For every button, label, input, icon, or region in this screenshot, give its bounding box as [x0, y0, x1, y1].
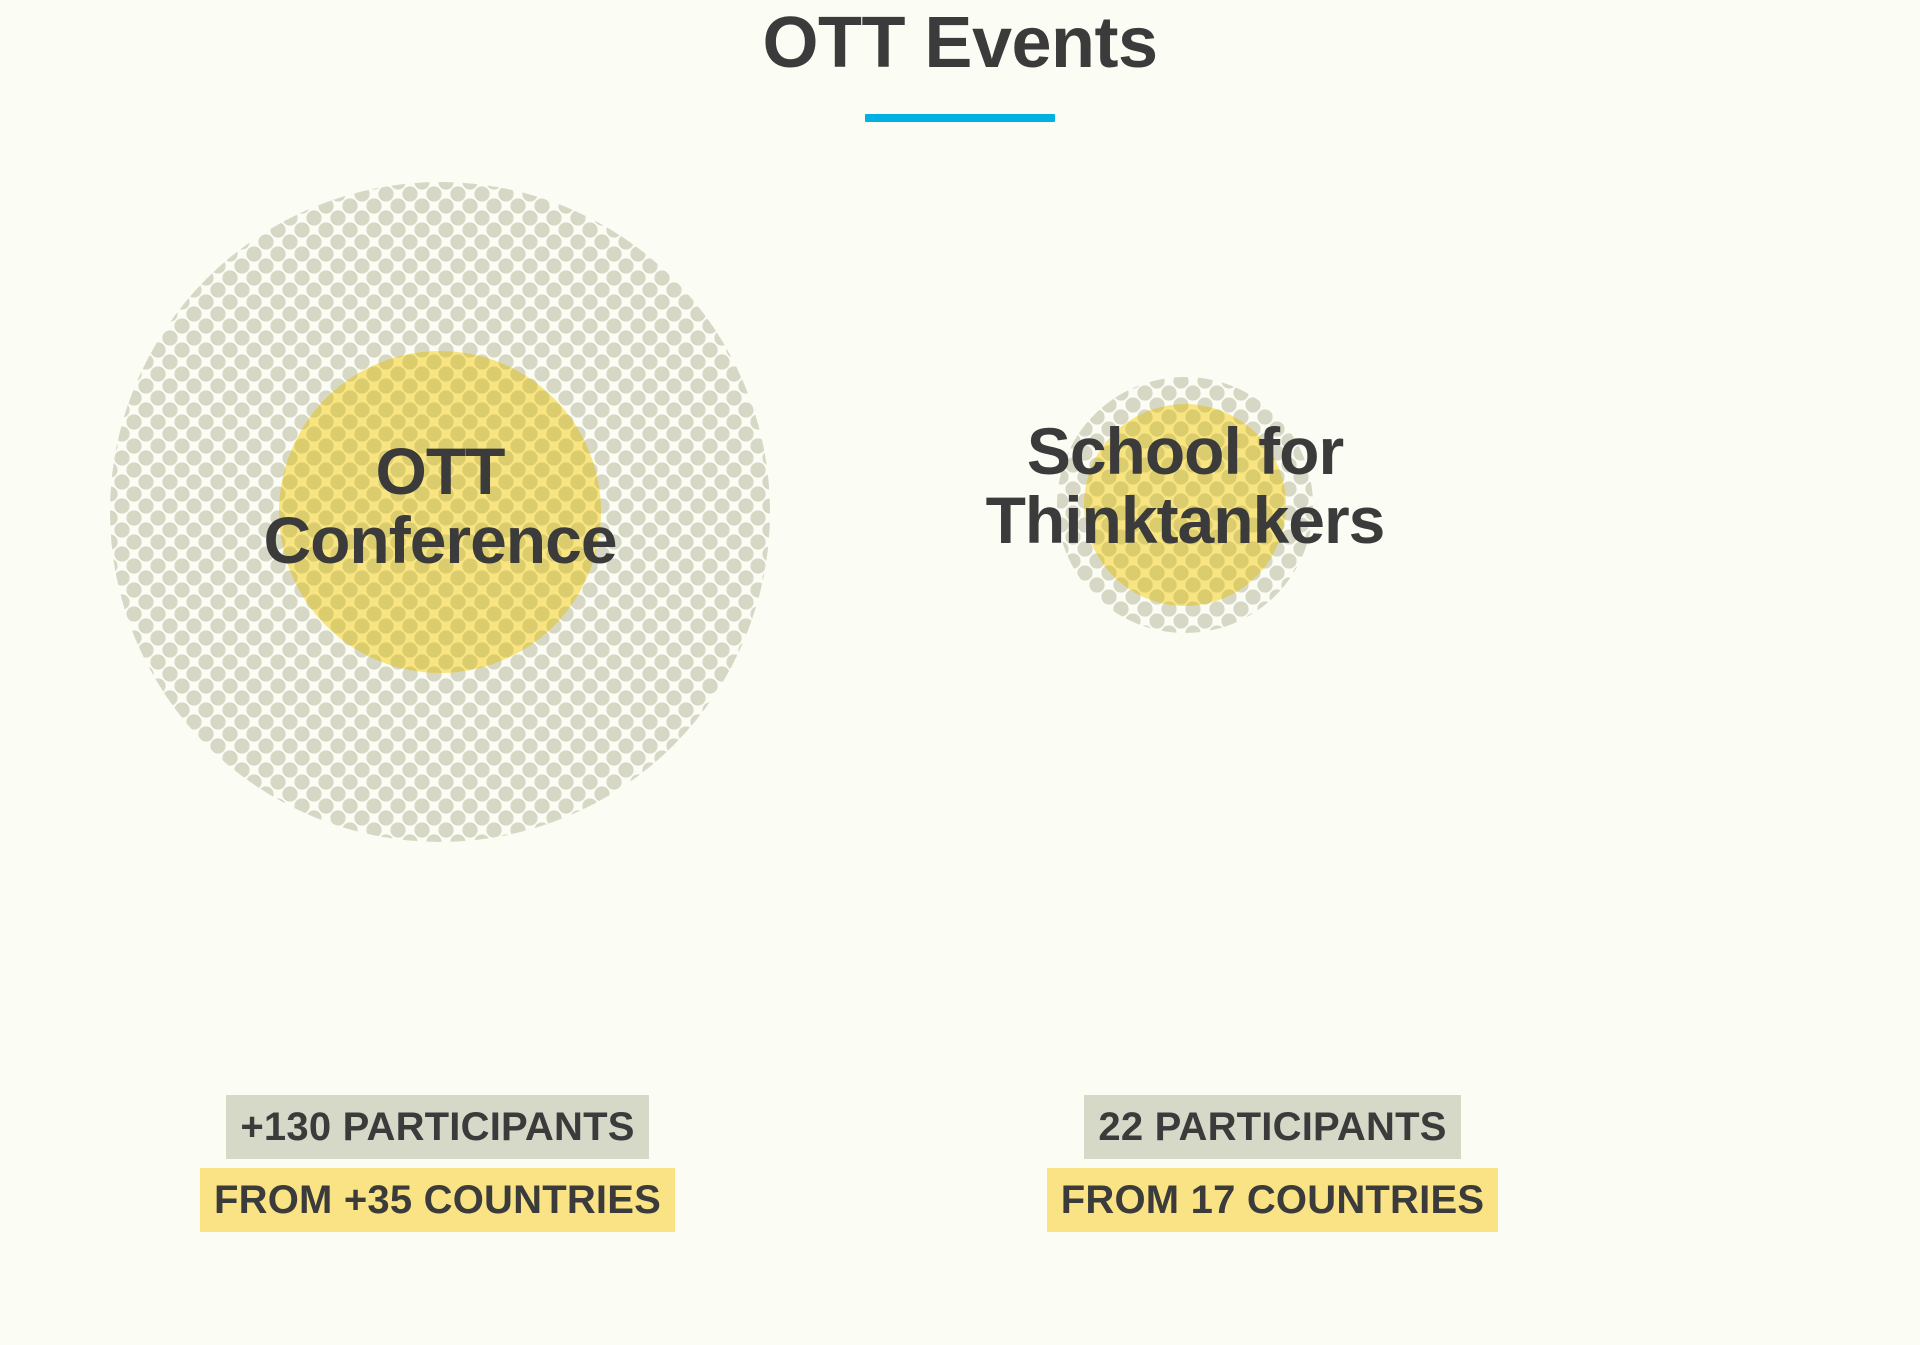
event-school-for-thinktankers: School for Thinktankers [1057, 377, 1313, 633]
stat-countries: FROM 17 COUNTRIES [1047, 1168, 1498, 1232]
stat-participants: +130 PARTICIPANTS [226, 1095, 648, 1159]
stat-countries: FROM +35 COUNTRIES [200, 1168, 675, 1232]
stat-participants: 22 PARTICIPANTS [1084, 1095, 1460, 1159]
event-name-school-for-thinktankers: School for Thinktankers [632, 417, 1738, 554]
stats-ott-conference: +130 PARTICIPANTS FROM +35 COUNTRIES [0, 1095, 875, 1232]
accent-bar [865, 114, 1055, 122]
infographic-canvas: OTT Events OTT Conference School for Thi… [0, 0, 1920, 1345]
page-title: OTT Events [0, 0, 1920, 83]
stats-school-for-thinktankers: 22 PARTICIPANTS FROM 17 COUNTRIES [760, 1095, 1785, 1232]
header: OTT Events [0, 0, 1920, 122]
